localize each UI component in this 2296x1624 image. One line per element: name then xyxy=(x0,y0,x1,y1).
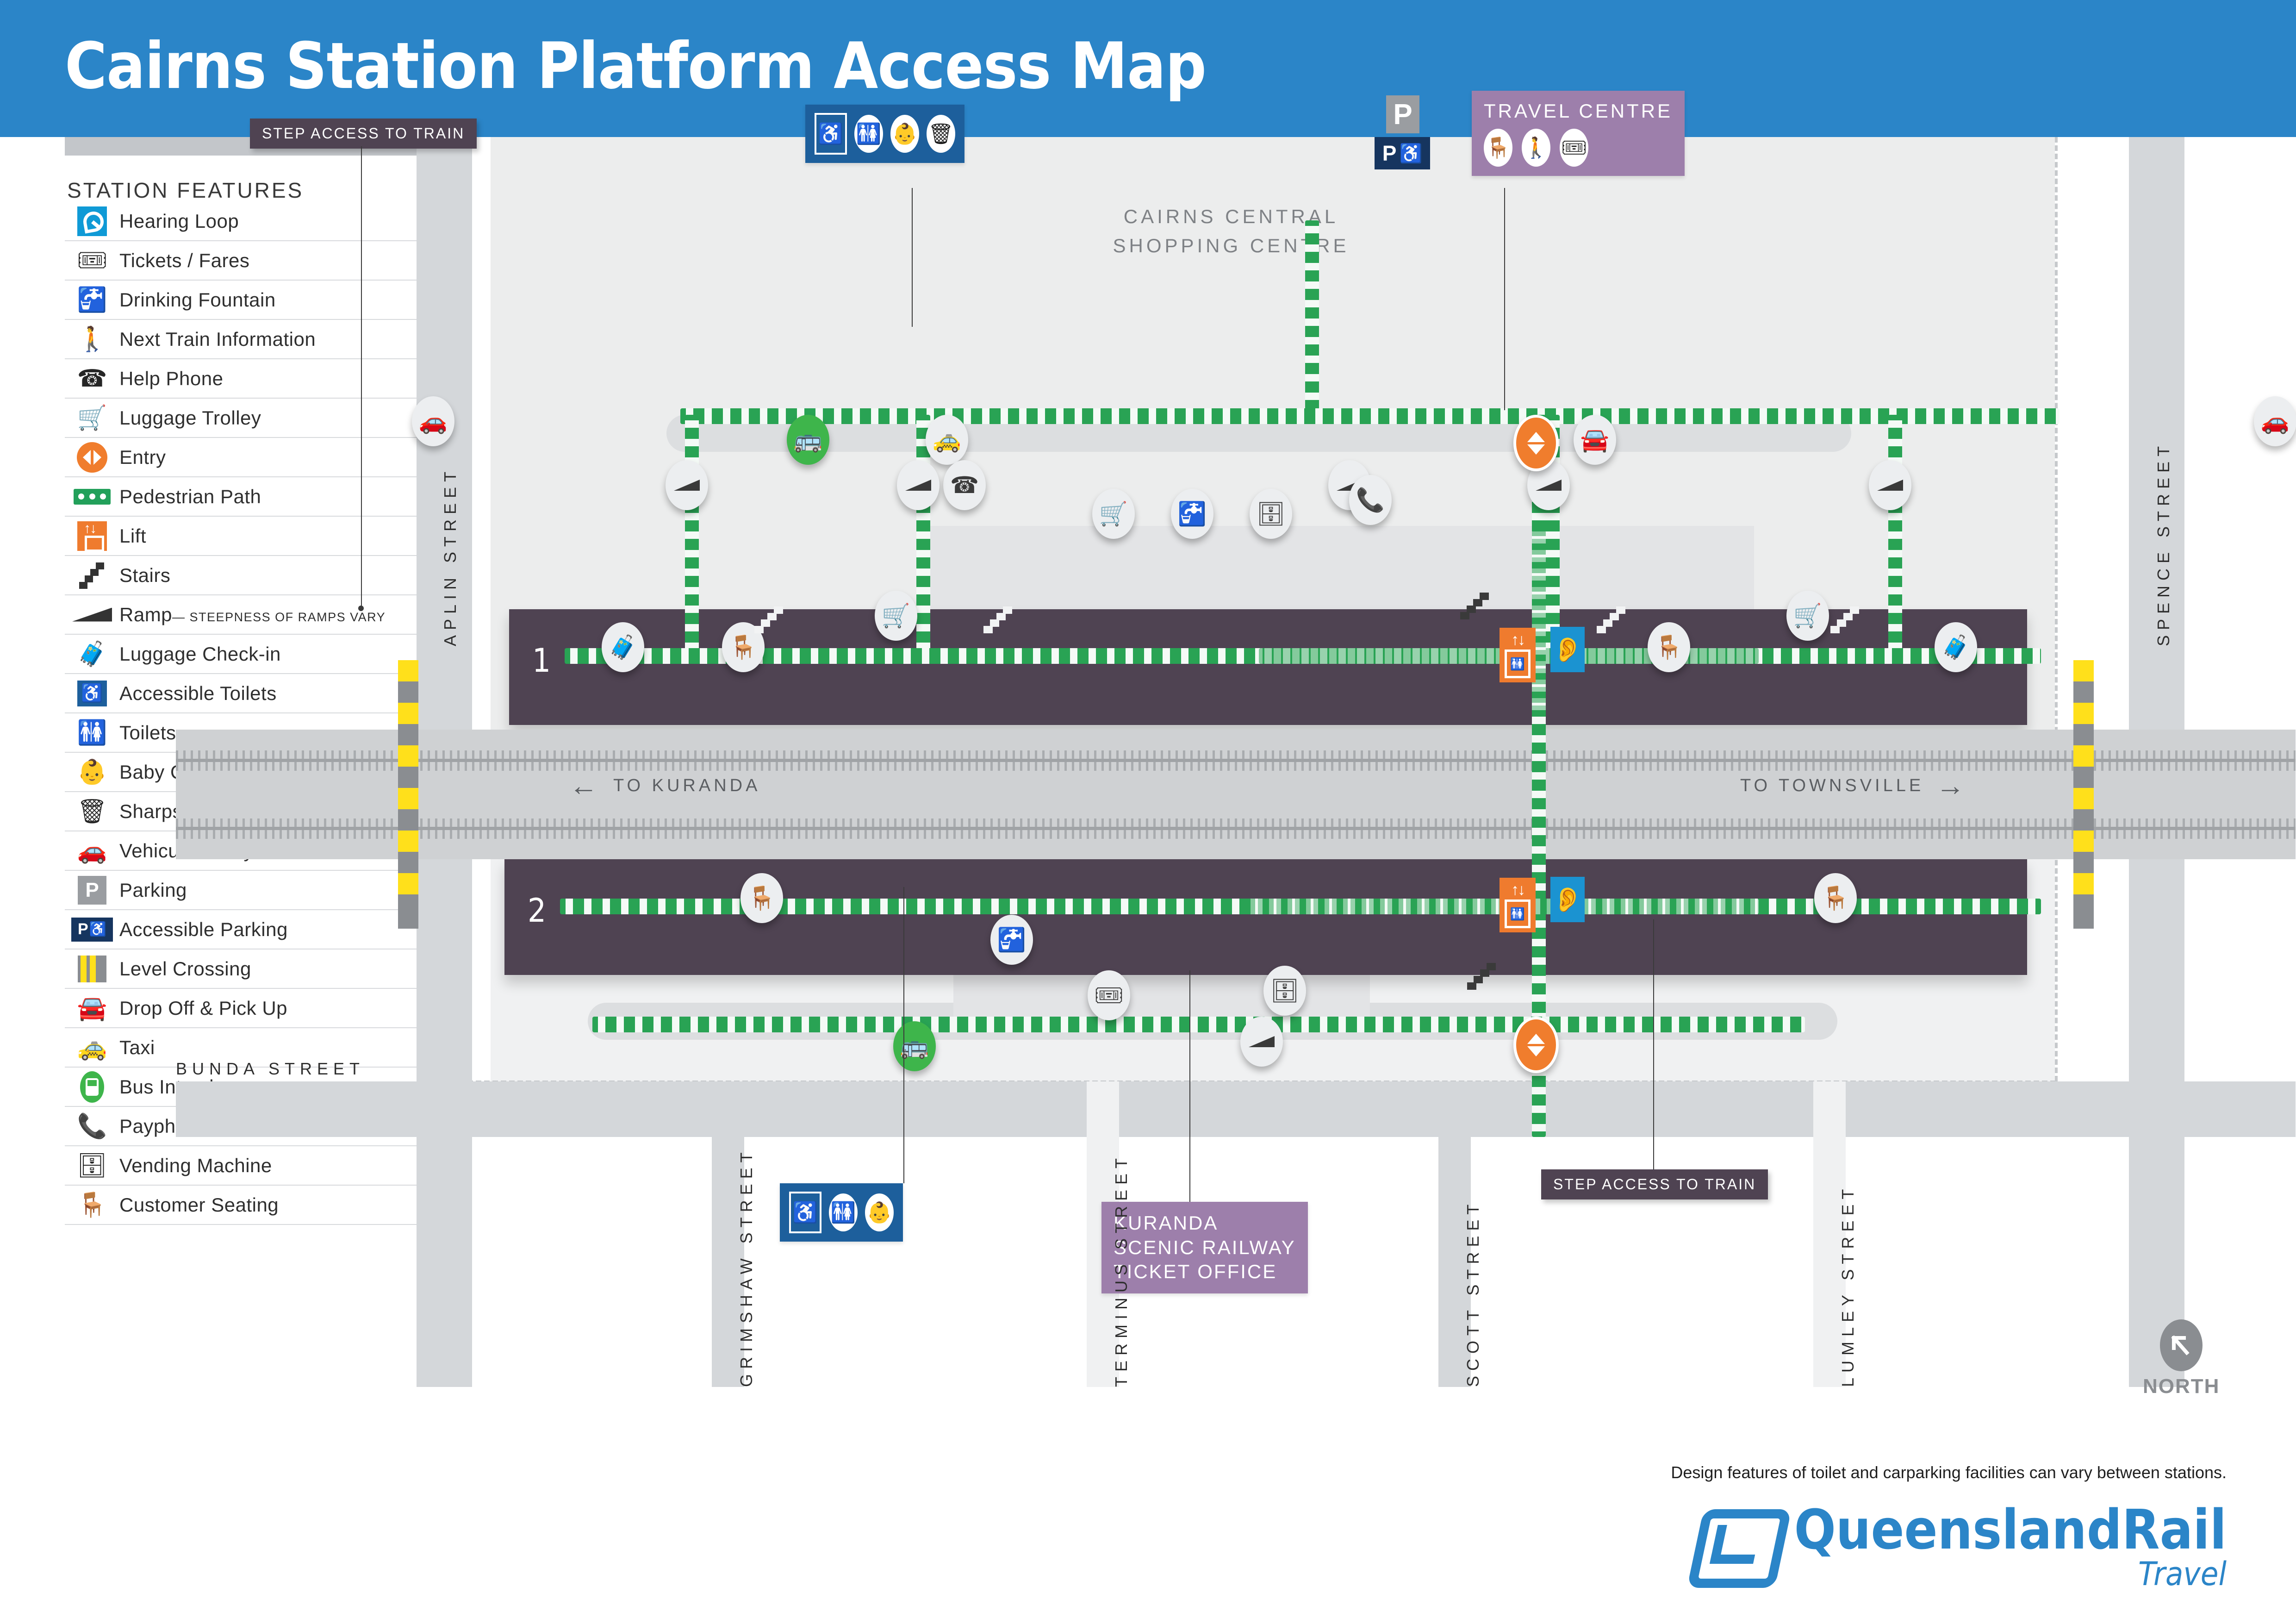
accessible-toilets-icon: ♿ xyxy=(789,1192,821,1233)
ramp-marker-5[interactable] xyxy=(1869,460,1911,510)
legend-item-next-train-information: 🚶Next Train Information xyxy=(65,320,421,359)
street-label-lumley: LUMLEY STREET xyxy=(1838,1184,1858,1387)
luggage-check-in-icon: 🧳 xyxy=(65,635,119,673)
kuranda-line-3: TICKET OFFICE xyxy=(1114,1260,1296,1284)
leader-travel-centre xyxy=(1504,188,1505,410)
leader-step-access-bottom-right xyxy=(1653,919,1654,1169)
rail-line-north xyxy=(176,759,2296,762)
stairs-icon-p1-right-a xyxy=(1597,605,1624,633)
vehicular-entry-marker-right[interactable]: 🚗 xyxy=(2254,396,2296,446)
luggage-check-in-marker-left[interactable]: 🧳 xyxy=(602,622,644,672)
stairs-icon-p1-left xyxy=(754,605,781,633)
ramp-marker-1[interactable] xyxy=(666,460,708,510)
legend-item-label: Entry xyxy=(119,446,166,468)
path-horizontal-upper xyxy=(680,408,2060,424)
drinking-fountain-marker-concourse[interactable]: 🚰 xyxy=(1171,489,1213,539)
legend-item-sublabel: — STEEPNESS OF RAMPS VARY xyxy=(172,610,386,624)
north-arrow-icon xyxy=(2160,1319,2203,1371)
hearing-loop-icon xyxy=(65,202,119,240)
baby-change-icon: 👶 xyxy=(865,1193,894,1231)
leader-toilets-top xyxy=(912,188,913,327)
drop-off-pick-up-marker-upper[interactable]: 🚘 xyxy=(1574,415,1616,465)
drinking-fountain-icon: 🚰 xyxy=(65,281,119,319)
level-crossing-left xyxy=(398,660,418,929)
map-canvas: 1 2 ← TO KURANDA TO TOWNSVILLE → CAIRNS … xyxy=(435,137,2296,1387)
legend-item-luggage-trolley: 🛒Luggage Trolley xyxy=(65,399,421,438)
pedestrian-path-icon xyxy=(65,477,119,516)
sharps-bin-icon: 🗑 xyxy=(65,792,119,831)
legend-item-customer-seating: 🪑Customer Seating xyxy=(65,1186,421,1225)
luggage-check-in-marker-right[interactable]: 🧳 xyxy=(1935,622,1977,672)
leader-toilets-bottom xyxy=(903,887,904,1183)
vehicular-entry-marker-left[interactable]: 🚗 xyxy=(412,396,454,446)
leader-step-access-top-left xyxy=(361,146,362,609)
lift-icon xyxy=(65,517,119,555)
lift-lower[interactable]: ↑↓ 🚻 xyxy=(1500,878,1536,932)
legend-item-vending-machine: 🗄Vending Machine xyxy=(65,1146,421,1186)
path-vertical-left-a xyxy=(685,415,699,656)
toilets-panel-top: ♿ 🚻 👶 🗑 xyxy=(805,105,964,163)
lift-cabin-icon: 🚻 xyxy=(1505,650,1531,678)
legend-item-stairs: Stairs xyxy=(65,556,421,595)
street-label-grimshaw: GRIMSHAW STREET xyxy=(737,1147,756,1387)
legend-item-tickets-fares: 🎟Tickets / Fares xyxy=(65,241,421,281)
luggage-trolley-marker-p1[interactable]: 🛒 xyxy=(875,591,917,641)
legend-item-label: Drinking Fountain xyxy=(119,289,276,311)
legend-title: STATION FEATURES xyxy=(67,178,304,203)
lift-arrows-icon: ↑↓ xyxy=(1511,632,1524,648)
bus-interchange-marker-upper[interactable]: 🚌 xyxy=(787,415,829,465)
legend-item-label: Next Train Information xyxy=(119,328,316,350)
bus-interchange-marker-lower[interactable]: 🚌 xyxy=(893,1021,936,1071)
level-crossing-icon xyxy=(65,949,119,988)
stairs-icon-concourse-lower xyxy=(1467,961,1494,990)
accessible-parking-icon: P♿ xyxy=(65,910,119,949)
legend-item-label: Taxi xyxy=(119,1037,155,1059)
track-corridor xyxy=(176,730,2296,859)
kuranda-line-2: SCENIC RAILWAY xyxy=(1114,1236,1296,1260)
customer-seating-marker-p2-left[interactable]: 🪑 xyxy=(740,873,783,923)
queensland-rail-logo: QueenslandRail Travel xyxy=(1695,1505,2227,1593)
legend-item-label: Vending Machine xyxy=(119,1155,272,1177)
path-horizontal-lower xyxy=(592,1017,1805,1032)
platform-2-number: 2 xyxy=(528,892,546,930)
bus-interchange-icon xyxy=(65,1068,119,1106)
legend-item-accessible-toilets: ♿Accessible Toilets xyxy=(65,674,421,713)
lift-arrows-icon: ↑↓ xyxy=(1511,882,1524,898)
kuranda-office-lines: KURANDA SCENIC RAILWAY TICKET OFFICE xyxy=(1114,1211,1296,1284)
footer-note: Design features of toilet and carparking… xyxy=(1671,1463,2227,1482)
direction-to-kuranda: ← TO KURANDA xyxy=(569,776,760,796)
shopping-centre-label: CAIRNS CENTRAL SHOPPING CENTRE xyxy=(1055,202,1407,260)
travel-centre-panel: TRAVEL CENTRE 🪑 🚶 🎟 xyxy=(1472,91,1685,176)
legend-item-entry: Entry xyxy=(65,438,421,477)
luggage-trolley-marker-concourse[interactable]: 🛒 xyxy=(1092,489,1135,539)
vehicular-entry-icon: 🚗 xyxy=(65,831,119,870)
legend-item-label: Tickets / Fares xyxy=(119,250,249,272)
leader-kuranda-office xyxy=(1189,970,1190,1202)
street-label-spence: SPENCE STREET xyxy=(2154,441,2173,646)
arrow-left-icon: ← xyxy=(569,777,601,794)
stairs-icon-p1-right-b xyxy=(1830,605,1857,633)
luggage-trolley-marker-right[interactable]: 🛒 xyxy=(1786,591,1829,641)
lift-upper[interactable]: ↑↓ 🚻 xyxy=(1500,628,1536,682)
station-access-map-page: Cairns Station Platform Access Map STATI… xyxy=(0,0,2296,1624)
entry-marker-upper[interactable] xyxy=(1513,415,1559,471)
payphone-marker-concourse[interactable]: 📞 xyxy=(1349,475,1392,525)
vending-machine-marker-p2[interactable]: 🗄 xyxy=(1263,966,1306,1016)
legend-item-label: Accessible Toilets xyxy=(119,682,277,705)
legend-item-label: Pedestrian Path xyxy=(119,486,261,508)
legend-item-label: Stairs xyxy=(119,564,170,587)
hearing-loop-lower[interactable]: 👂 xyxy=(1550,877,1585,922)
vending-machine-marker-concourse[interactable]: 🗄 xyxy=(1250,489,1292,539)
callout-step-access-top-left: STEP ACCESS TO TRAIN xyxy=(250,119,477,149)
ramp-marker-2[interactable] xyxy=(897,460,940,510)
legend-item-label: Help Phone xyxy=(119,368,224,390)
rail-line-south xyxy=(176,827,2296,830)
street-label-bunda: BUNDA STREET xyxy=(176,1059,365,1079)
direction-label: TO KURANDA xyxy=(613,776,760,796)
shopping-centre-line2: SHOPPING CENTRE xyxy=(1055,231,1407,260)
travel-centre-title: TRAVEL CENTRE xyxy=(1484,100,1673,122)
taxi-icon: 🚕 xyxy=(65,1028,119,1067)
legend-item-pedestrian-path: Pedestrian Path xyxy=(65,477,421,517)
legend-item-label: Parking xyxy=(119,879,187,901)
hearing-loop-upper[interactable]: 👂 xyxy=(1550,627,1585,672)
direction-label: TO TOWNSVILLE xyxy=(1740,776,1924,796)
legend-item-label: Ramp— STEEPNESS OF RAMPS VARY xyxy=(119,604,386,626)
customer-seating-marker-p2-right[interactable]: 🪑 xyxy=(1814,873,1857,923)
leader-dot-step-access-top-left xyxy=(358,606,364,611)
accessible-toilets-icon: ♿ xyxy=(65,674,119,712)
legend-item-drinking-fountain: 🚰Drinking Fountain xyxy=(65,281,421,320)
toilets-icon: 🚻 xyxy=(854,115,883,153)
legend-item-label: Hearing Loop xyxy=(119,210,239,232)
legend-item-accessible-parking: P♿Accessible Parking xyxy=(65,910,421,949)
drop-off-pick-up-icon: 🚘 xyxy=(65,989,119,1027)
legend-item-label: Level Crossing xyxy=(119,958,251,980)
baby-change-icon: 👶 xyxy=(65,753,119,791)
accessible-toilets-icon: ♿ xyxy=(815,113,847,155)
mall-block xyxy=(491,137,2055,396)
legend-item-ramp: Ramp— STEEPNESS OF RAMPS VARY xyxy=(65,595,421,635)
entry-icon xyxy=(65,438,119,476)
legend-item-hearing-loop: Hearing Loop xyxy=(65,202,421,241)
ramp-marker-lower[interactable] xyxy=(1240,1017,1283,1067)
next-train-information-icon: 🚶 xyxy=(65,320,119,358)
platform-1-number: 1 xyxy=(532,642,551,680)
bunda-street-road xyxy=(176,1081,2296,1137)
luggage-trolley-icon: 🛒 xyxy=(65,399,119,437)
toilets-icon: 🚻 xyxy=(829,1193,858,1231)
direction-to-townsville: TO TOWNSVILLE → xyxy=(1740,776,1968,796)
north-label: NORTH xyxy=(2143,1375,2220,1398)
legend-item-help-phone: ☎Help Phone xyxy=(65,359,421,399)
legend-item-level-crossing: Level Crossing xyxy=(65,949,421,989)
help-phone-marker-upper[interactable]: ☎ xyxy=(943,460,986,510)
toilets-panel-bottom: ♿ 🚻 👶 xyxy=(780,1183,903,1242)
customer-seating-marker-right[interactable]: 🪑 xyxy=(1648,622,1690,672)
legend-item-label: Accessible Parking xyxy=(119,918,288,941)
callout-step-access-bottom-right: STEP ACCESS TO TRAIN xyxy=(1541,1169,1768,1199)
legend-item-label: Toilets xyxy=(119,722,176,744)
legend-item-parking: PParking xyxy=(65,871,421,910)
tickets-fares-icon: 🎟 xyxy=(1560,129,1588,167)
stairs-icon xyxy=(65,556,119,594)
legend-item-label: Luggage Check-in xyxy=(119,643,281,665)
customer-seating-icon: 🪑 xyxy=(65,1186,119,1224)
taxi-marker-upper[interactable]: 🚕 xyxy=(926,415,968,465)
tickets-fares-icon: 🎟 xyxy=(65,241,119,280)
street-label-terminus: TERMINUS STREET xyxy=(1112,1153,1131,1387)
ramp-icon xyxy=(65,595,119,634)
legend-item-lift: Lift xyxy=(65,517,421,556)
legend-item-label: Customer Seating xyxy=(119,1194,279,1216)
street-label-aplin: APLIN STREET xyxy=(441,467,460,646)
precinct-boundary-right xyxy=(2055,137,2058,1081)
path-vertical-right-b xyxy=(1888,415,1902,656)
legend-item-luggage-check-in: 🧳Luggage Check-in xyxy=(65,635,421,674)
stairs-icon-p1-mid xyxy=(983,605,1010,633)
street-label-scott: SCOTT STREET xyxy=(1463,1199,1483,1387)
entry-arrows-icon xyxy=(1527,1034,1545,1056)
legend-item-label: Luggage Trolley xyxy=(119,407,261,429)
legend-item-label: Lift xyxy=(119,525,146,547)
legend-item-drop-off-pick-up: 🚘Drop Off & Pick Up xyxy=(65,989,421,1028)
next-train-information-icon: 🚶 xyxy=(1522,129,1550,167)
logo-text: QueenslandRail xyxy=(1794,1505,2227,1555)
page-title: Cairns Station Platform Access Map xyxy=(65,29,1206,103)
toilets-icon: 🚻 xyxy=(65,713,119,752)
platform-2 xyxy=(504,859,2027,975)
parking-icon: P xyxy=(65,871,119,909)
help-phone-icon: ☎ xyxy=(65,359,119,398)
path-vertical-concourse-overlay xyxy=(1532,531,1546,716)
customer-seating-icon: 🪑 xyxy=(1484,129,1512,167)
drinking-fountain-marker-p2[interactable]: 🚰 xyxy=(990,915,1033,965)
vending-machine-icon: 🗄 xyxy=(65,1146,119,1185)
legend-item-label: Drop Off & Pick Up xyxy=(119,997,287,1019)
parking-sign: P xyxy=(1386,95,1419,133)
shopping-centre-line1: CAIRNS CENTRAL xyxy=(1055,202,1407,231)
page-header: Cairns Station Platform Access Map xyxy=(0,0,2296,137)
payphone-icon: 📞 xyxy=(65,1107,119,1145)
level-crossing-right xyxy=(2073,660,2094,929)
accessible-parking-sign: P♿ xyxy=(1375,137,1430,169)
kuranda-line-1: KURANDA xyxy=(1114,1211,1296,1236)
kuranda-ticket-office-panel: KURANDA SCENIC RAILWAY TICKET OFFICE xyxy=(1101,1202,1308,1293)
stairs-icon-concourse-upper xyxy=(1460,591,1487,619)
entry-marker-lower[interactable] xyxy=(1513,1017,1559,1073)
entry-arrows-icon xyxy=(1527,432,1545,455)
sharps-bin-icon: 🗑 xyxy=(927,115,955,153)
compass: NORTH xyxy=(2143,1319,2220,1398)
path-vertical-mall-spur xyxy=(1305,220,1319,415)
lift-cabin-icon: 🚻 xyxy=(1505,899,1531,928)
tickets-fares-marker-p2[interactable]: 🎟 xyxy=(1088,970,1130,1020)
queensland-rail-logo-mark-icon xyxy=(1687,1509,1792,1588)
baby-change-icon: 👶 xyxy=(890,115,919,153)
arrow-right-icon: → xyxy=(1936,777,1968,794)
